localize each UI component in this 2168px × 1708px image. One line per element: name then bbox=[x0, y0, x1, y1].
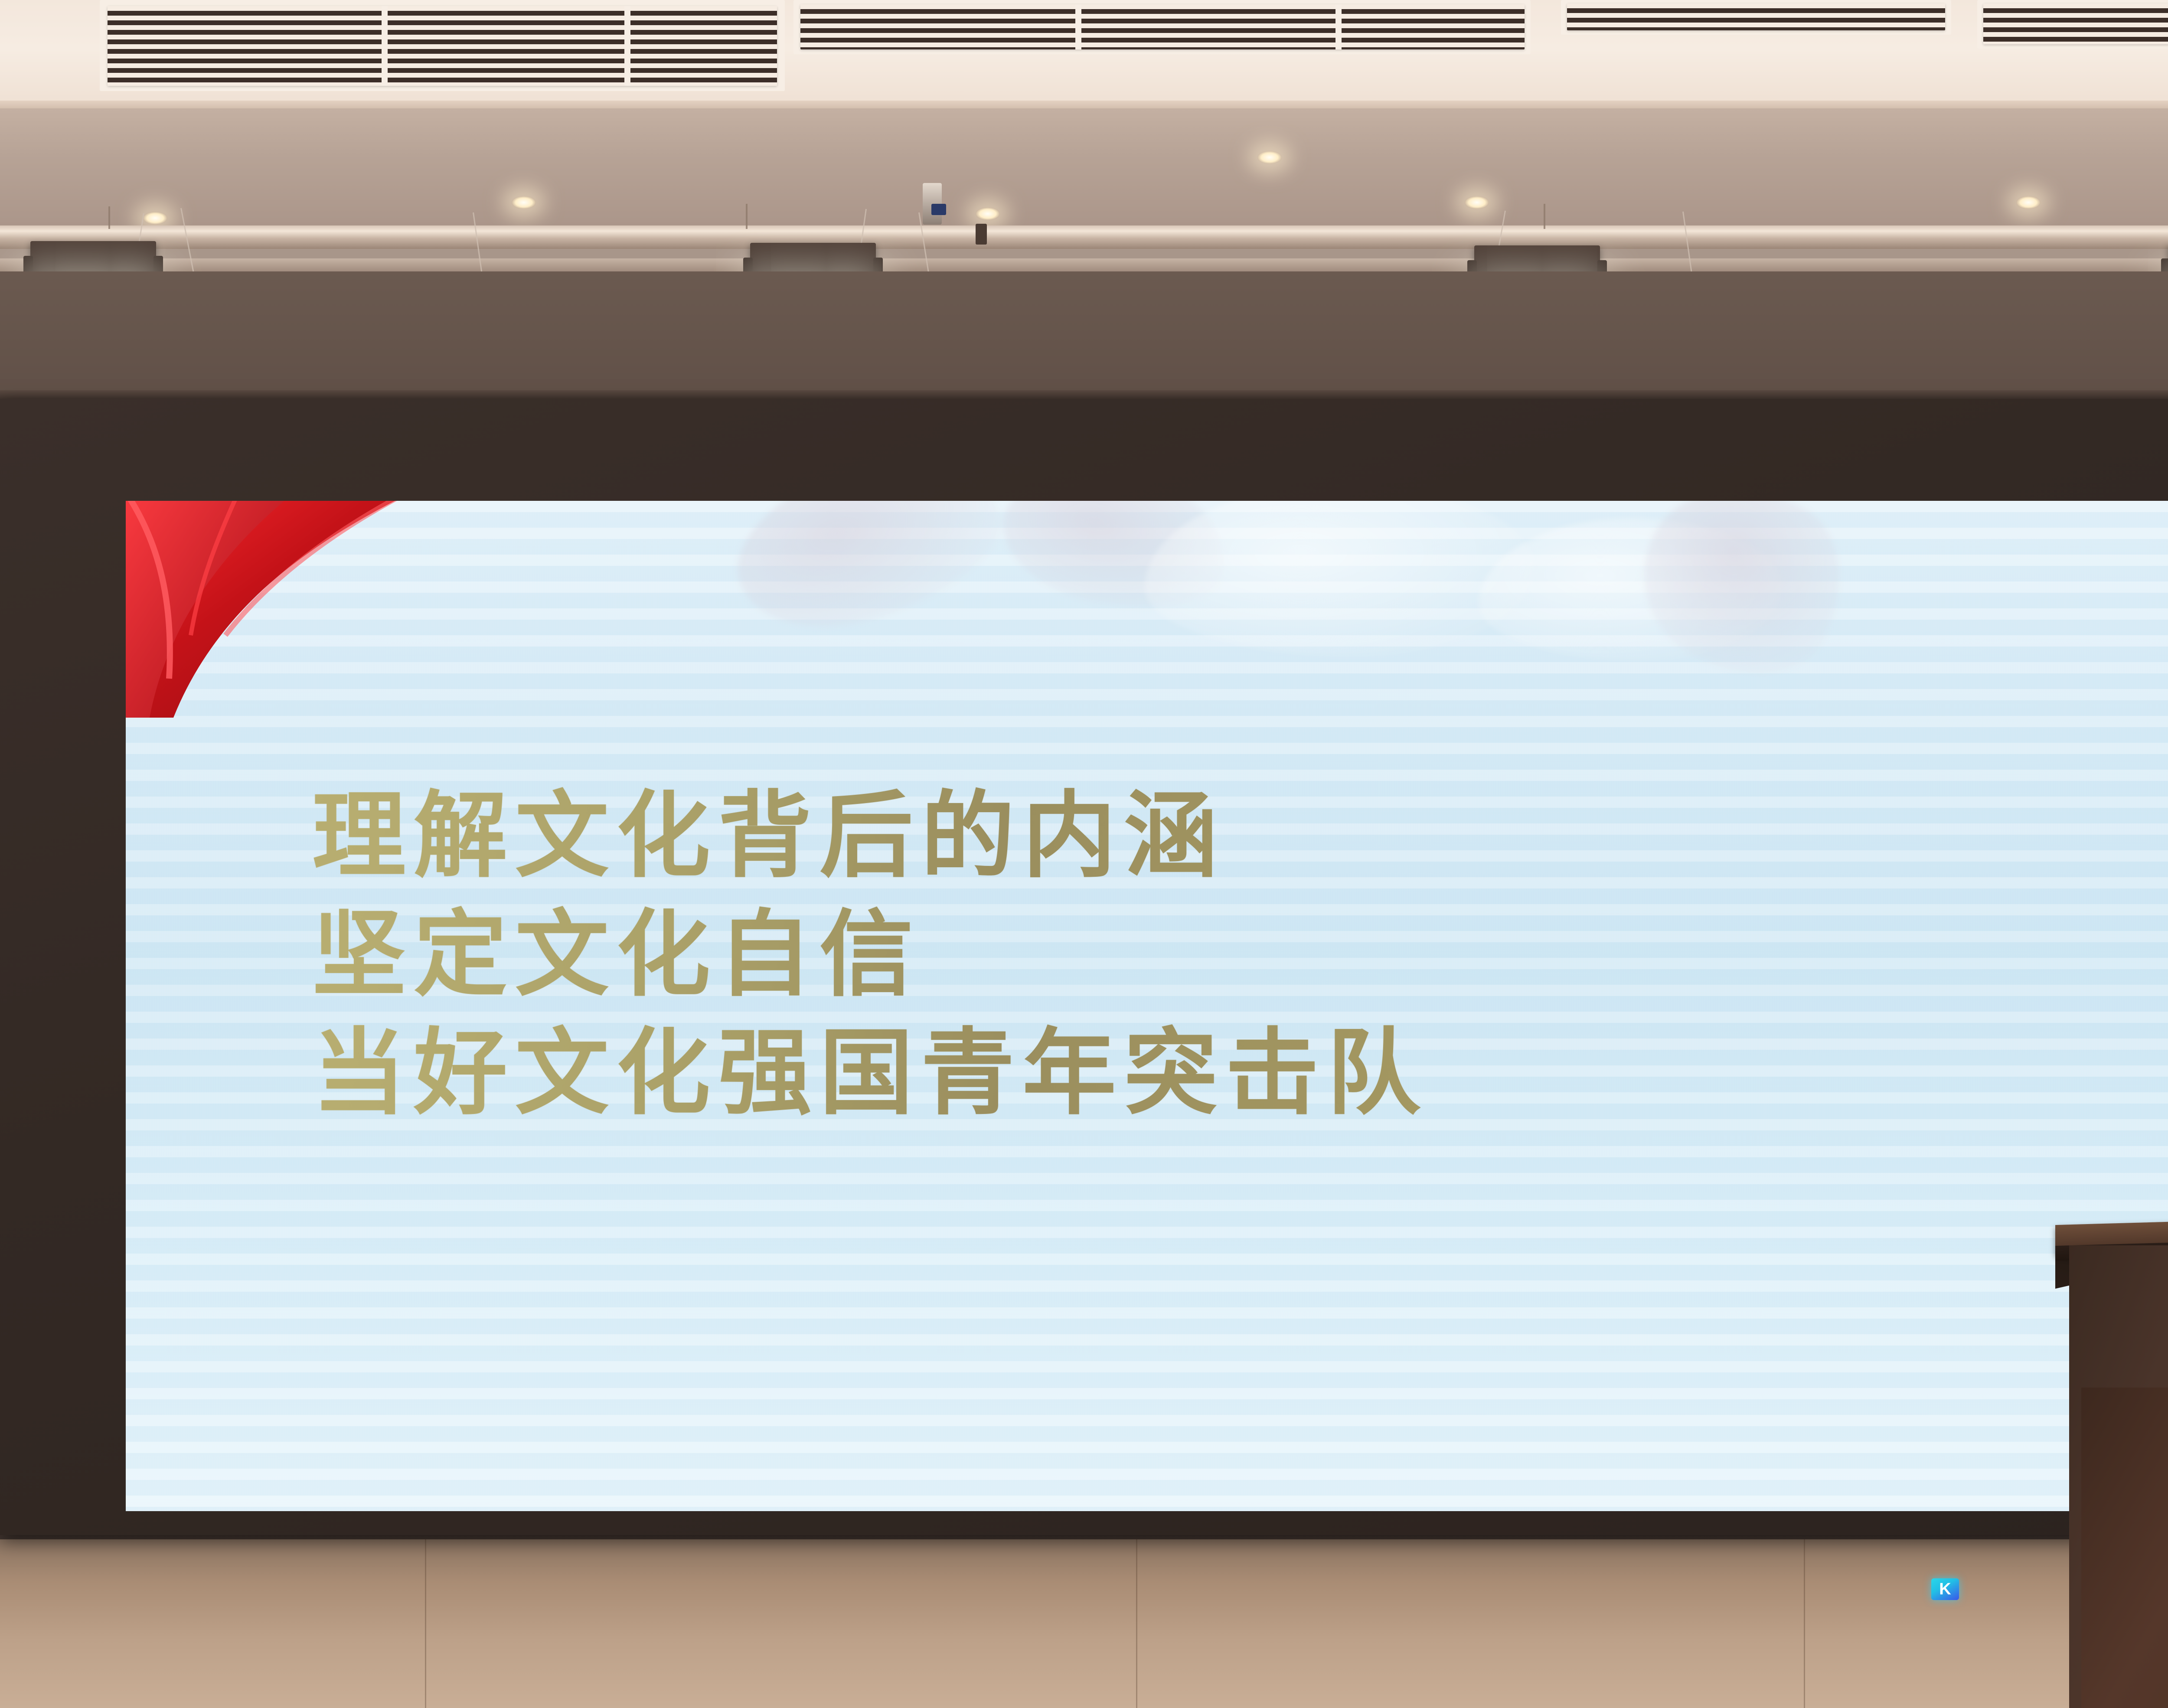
lower-wall bbox=[0, 1539, 2168, 1708]
lighting-truss-lower bbox=[0, 258, 2168, 271]
recessed-downlight bbox=[976, 207, 1000, 220]
wall-seam bbox=[425, 1539, 426, 1708]
scene-root: 理解文化背后的内涵 坚定文化自信 当好文化强国青年突击队 K bbox=[0, 0, 2168, 1708]
hvac-vent-louvers bbox=[800, 4, 1525, 49]
hvac-vent-louvers bbox=[1567, 3, 1945, 30]
wps-kingsoft-icon[interactable]: K bbox=[1931, 1578, 1959, 1600]
led-scanline-overlay bbox=[126, 501, 2168, 1511]
wall-seam bbox=[1804, 1539, 1805, 1708]
watermark-petal bbox=[1612, 501, 1874, 706]
recessed-downlight bbox=[1257, 151, 1282, 164]
hvac-vent-louvers bbox=[1983, 3, 2168, 44]
recessed-downlight bbox=[143, 212, 167, 225]
hvac-vent-louvers bbox=[108, 6, 777, 86]
led-pixel-grid bbox=[126, 501, 2168, 1511]
slide-text-block: 理解文化背后的内涵 坚定文化自信 当好文化强国青年突击队 bbox=[312, 778, 1428, 1130]
ceiling-soffit bbox=[0, 108, 2168, 225]
vent-divider bbox=[624, 6, 630, 86]
recessed-downlight bbox=[512, 196, 536, 209]
watermark-cloud bbox=[1145, 501, 1535, 657]
truss-hanger bbox=[746, 204, 748, 229]
vent-divider bbox=[1335, 4, 1342, 49]
recessed-downlight bbox=[2016, 196, 2041, 209]
red-flag-ribbon bbox=[126, 501, 438, 718]
podium-lower-panel bbox=[2081, 1388, 2168, 1708]
lighting-truss bbox=[0, 225, 2168, 249]
truss-hanger bbox=[108, 206, 110, 229]
slide-line-1: 理解文化背后的内涵 bbox=[312, 778, 1428, 893]
projector-lens bbox=[931, 204, 946, 215]
vent-divider bbox=[382, 6, 388, 86]
watermark-petal bbox=[715, 501, 1019, 656]
recessed-downlight bbox=[1465, 196, 1489, 209]
slide-line-3: 当好文化强国青年突击队 bbox=[312, 1016, 1428, 1130]
slide-surface: 理解文化背后的内涵 坚定文化自信 当好文化强国青年突击队 bbox=[126, 501, 2168, 1511]
vent-divider bbox=[1075, 4, 1081, 49]
projector-clamp bbox=[976, 224, 987, 245]
truss-hanger bbox=[1544, 204, 1545, 229]
slide-line-2: 坚定文化自信 bbox=[312, 897, 1428, 1012]
watermark-cloud bbox=[1479, 518, 1782, 661]
watermark-petal bbox=[990, 501, 1238, 627]
wall-seam bbox=[1136, 1539, 1137, 1708]
